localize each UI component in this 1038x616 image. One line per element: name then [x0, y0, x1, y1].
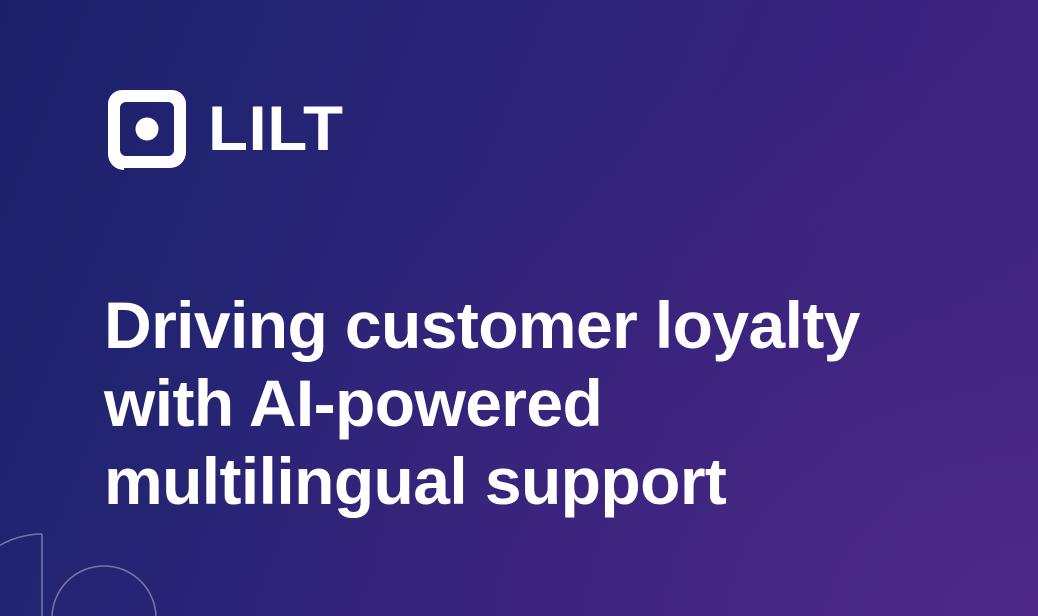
- headline-line-2: with AI-powered: [104, 364, 964, 442]
- brand-slide: LILT Driving customer loyalty with AI-po…: [0, 0, 1038, 616]
- page-title: Driving customer loyalty with AI-powered…: [104, 286, 964, 520]
- headline-line-1: Driving customer loyalty: [104, 286, 964, 364]
- half-circle-outline-icon: [52, 566, 156, 616]
- quarter-circle-outline-icon: [0, 534, 42, 616]
- brand-logo-lockup[interactable]: LILT: [104, 86, 338, 172]
- lilt-wordmark: LILT: [208, 98, 343, 161]
- lilt-bracket-dot-logo-icon: [104, 86, 190, 172]
- headline-line-3: multilingual support: [104, 442, 964, 520]
